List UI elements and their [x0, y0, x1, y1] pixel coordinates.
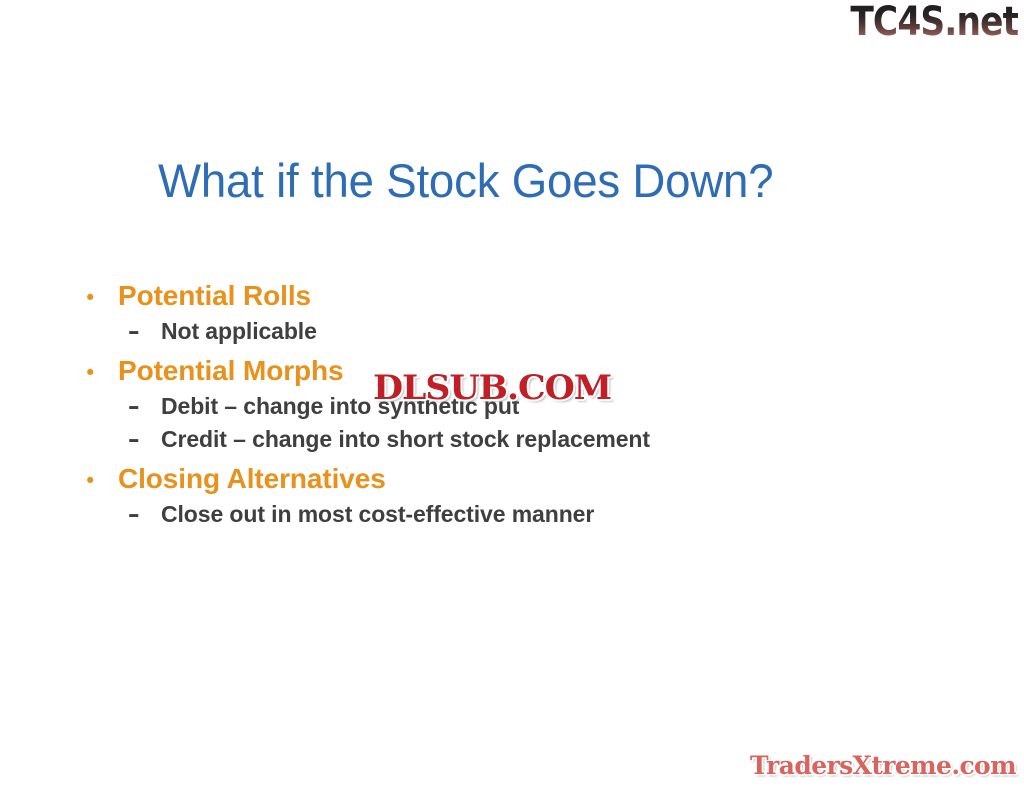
list-item: – Not applicable [128, 318, 944, 345]
bullet-dot-icon: • [84, 288, 118, 309]
dash-icon: – [128, 504, 161, 527]
list-item-label: Closing Alternatives [118, 463, 386, 495]
dash-icon: – [128, 429, 161, 452]
tradersxtreme-watermark: TradersXtreme.com [750, 753, 1016, 778]
dlsub-watermark: DLSUB.COM [373, 371, 611, 405]
list-item-label: Not applicable [161, 318, 317, 345]
list-item-label: Credit – change into short stock replace… [161, 426, 650, 453]
bullet-dot-icon: • [84, 471, 118, 492]
slide-canvas: TC4S.net What if the Stock Goes Down? • … [0, 0, 1024, 791]
dash-icon: – [128, 396, 161, 419]
list-item-label: Potential Rolls [118, 280, 311, 312]
list-item-label: Potential Morphs [118, 355, 344, 387]
page-title: What if the Stock Goes Down? [158, 153, 773, 208]
dash-icon: – [128, 321, 161, 344]
list-item: – Credit – change into short stock repla… [128, 426, 944, 453]
list-item: • Potential Rolls [84, 280, 944, 312]
bullet-dot-icon: • [84, 363, 118, 384]
list-item: • Closing Alternatives [84, 463, 944, 495]
list-item-label: Close out in most cost-effective manner [161, 501, 594, 528]
tc4s-logo: TC4S.net [850, 2, 1018, 42]
list-item: – Close out in most cost-effective manne… [128, 501, 944, 528]
